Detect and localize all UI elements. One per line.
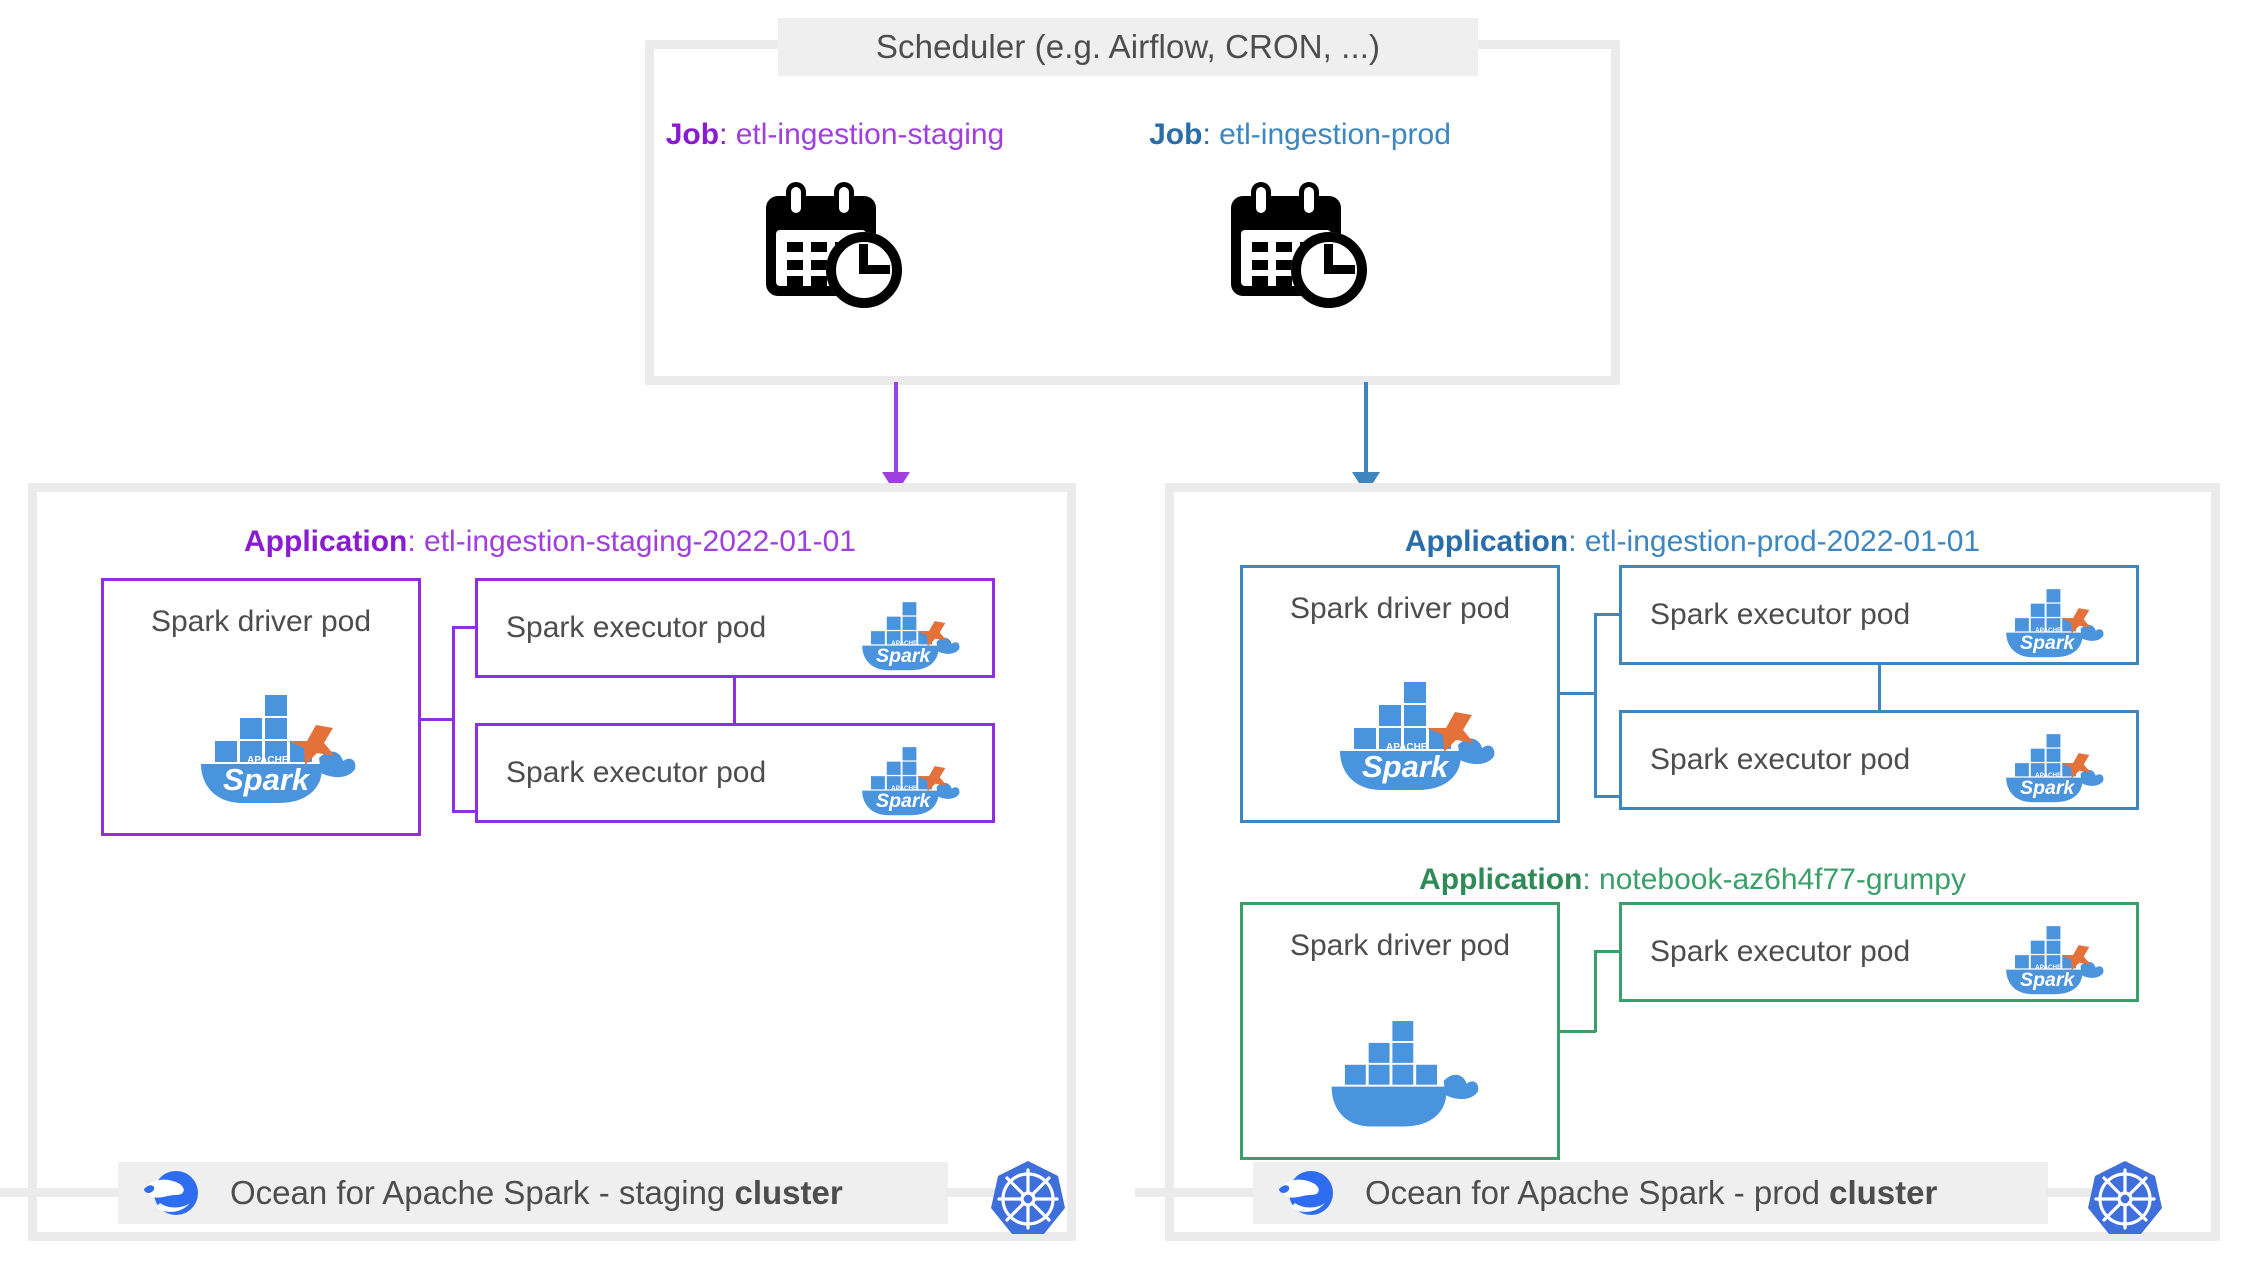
ocean-spot-logo-icon: [1277, 1167, 1339, 1219]
pod-executor-staging-2-label: Spark executor pod: [506, 756, 766, 790]
job-prod-prefix: Job: [1149, 118, 1202, 151]
svg-text:Spark: Spark: [876, 790, 931, 812]
pod-executor-notebook-1-label: Spark executor pod: [1650, 935, 1910, 969]
connector-notebook-spine: [1594, 950, 1597, 1032]
cluster-footer-prod-text: Ocean for Apache Spark - prod cluster: [1365, 1174, 1937, 1212]
cluster-footer-staging-prefix: Ocean for Apache Spark - staging: [230, 1174, 734, 1211]
job-staging-name: etl-ingestion-staging: [736, 118, 1005, 151]
svg-text:APACHE: APACHE: [2035, 772, 2061, 779]
docker-spark-whale-icon: Spark APACHE: [824, 727, 976, 819]
app-prod-prefix: Application: [1405, 525, 1568, 558]
connector-prod-spine: [1594, 613, 1597, 798]
svg-text:Spark: Spark: [223, 762, 311, 797]
app-label-notebook: Application: notebook-az6h4f77-grumpy: [1200, 863, 2185, 897]
arrow-prod-shaft: [1364, 382, 1368, 480]
svg-text:Spark: Spark: [2020, 632, 2075, 654]
ocean-spot-logo-icon: [142, 1167, 204, 1219]
calendar-clock-icon: [760, 182, 910, 310]
svg-text:APACHE: APACHE: [247, 755, 289, 766]
job-prod-label: Job: etl-ingestion-prod: [1090, 118, 1510, 152]
scheduler-title: Scheduler (e.g. Airflow, CRON, ...): [778, 18, 1478, 76]
svg-text:APACHE: APACHE: [2035, 964, 2061, 971]
svg-text:Spark: Spark: [2020, 777, 2075, 799]
connector-staging-driver-stub: [421, 718, 454, 721]
app-staging-name: etl-ingestion-staging-2022-01-01: [424, 525, 856, 558]
connector-notebook-driver-stub: [1560, 1030, 1596, 1033]
app-notebook-prefix: Application: [1419, 863, 1582, 896]
pod-driver-notebook[interactable]: Spark driver pod: [1240, 902, 1560, 1160]
docker-whale-plain-icon-wrap: [1243, 963, 1557, 1157]
kubernetes-logo-icon: [2084, 1158, 2166, 1240]
app-staging-sep: :: [407, 525, 424, 558]
calendar-clock-icon-wrap-2: [1090, 182, 1510, 310]
app-notebook-sep: :: [1582, 863, 1599, 896]
job-prod-sep: :: [1202, 118, 1219, 151]
pod-executor-prod-2[interactable]: Spark executor pod Spark APACHE: [1619, 710, 2139, 810]
pod-driver-prod-label: Spark driver pod: [1290, 592, 1510, 626]
footer-connector-prod-left: [1135, 1188, 1255, 1197]
connector-notebook-exec1: [1594, 950, 1621, 953]
cluster-footer-prod-bold: cluster: [1829, 1174, 1937, 1211]
job-staging-prefix: Job: [666, 118, 719, 151]
cluster-footer-staging: Ocean for Apache Spark - staging cluster: [118, 1162, 948, 1224]
pod-executor-staging-1[interactable]: Spark executor pod Spark APACHE: [475, 578, 995, 678]
k8s-logo-staging-wrap: [987, 1158, 1069, 1240]
arrow-staging-shaft: [894, 382, 898, 480]
calendar-clock-icon-wrap: [625, 182, 1045, 310]
kubernetes-logo-icon: [987, 1158, 1069, 1240]
app-label-etl-staging: Application: etl-ingestion-staging-2022-…: [80, 525, 1020, 559]
svg-text:Spark: Spark: [2020, 969, 2075, 991]
docker-whale-plain-icon: [1305, 990, 1495, 1130]
connector-staging-mid: [733, 678, 736, 723]
svg-text:APACHE: APACHE: [2035, 627, 2061, 634]
connector-staging-spine: [452, 626, 455, 812]
pod-executor-notebook-1[interactable]: Spark executor pod Spark APACHE: [1619, 902, 2139, 1002]
footer-connector-staging-left: [0, 1188, 120, 1197]
cluster-footer-staging-text: Ocean for Apache Spark - staging cluster: [230, 1174, 843, 1212]
diagram-canvas: Scheduler (e.g. Airflow, CRON, ...) Job:…: [0, 0, 2248, 1262]
docker-spark-whale-icon: Spark APACHE: [824, 582, 976, 674]
connector-prod-mid: [1878, 665, 1881, 710]
job-prod-name: etl-ingestion-prod: [1219, 118, 1451, 151]
job-staging-sep: :: [719, 118, 736, 151]
calendar-clock-icon: [1225, 182, 1375, 310]
docker-spark-whale-icon-wrap: Spark APACHE: [104, 639, 418, 833]
pod-executor-staging-1-label: Spark executor pod: [506, 611, 766, 645]
job-staging: Job: etl-ingestion-staging: [625, 118, 1045, 310]
connector-prod-driver-stub: [1560, 692, 1596, 695]
app-staging-prefix: Application: [244, 525, 407, 558]
svg-text:APACHE: APACHE: [891, 785, 917, 792]
pod-driver-staging[interactable]: Spark driver pod Spark APACHE: [101, 578, 421, 836]
svg-text:Spark: Spark: [876, 645, 931, 667]
job-staging-label: Job: etl-ingestion-staging: [625, 118, 1045, 152]
docker-spark-whale-icon: Spark APACHE: [1968, 906, 2120, 998]
docker-spark-whale-icon: Spark APACHE: [161, 663, 361, 809]
job-prod: Job: etl-ingestion-prod: [1090, 118, 1510, 310]
pod-driver-staging-label: Spark driver pod: [151, 605, 371, 639]
connector-staging-exec1: [452, 626, 477, 629]
pod-executor-prod-1[interactable]: Spark executor pod Spark APACHE: [1619, 565, 2139, 665]
app-prod-sep: :: [1568, 525, 1585, 558]
pod-executor-staging-2[interactable]: Spark executor pod Spark APACHE: [475, 723, 995, 823]
cluster-footer-prod: Ocean for Apache Spark - prod cluster: [1253, 1162, 2048, 1224]
app-label-etl-prod: Application: etl-ingestion-prod-2022-01-…: [1200, 525, 2185, 559]
app-notebook-name: notebook-az6h4f77-grumpy: [1599, 863, 1966, 896]
pod-driver-prod[interactable]: Spark driver pod Spark APACHE: [1240, 565, 1560, 823]
k8s-logo-prod-wrap: [2084, 1158, 2166, 1240]
pod-driver-notebook-label: Spark driver pod: [1290, 929, 1510, 963]
svg-text:APACHE: APACHE: [891, 640, 917, 647]
docker-spark-whale-icon: Spark APACHE: [1968, 714, 2120, 806]
docker-spark-whale-icon-wrap: Spark APACHE: [1243, 626, 1557, 820]
pod-executor-prod-2-label: Spark executor pod: [1650, 743, 1910, 777]
svg-text:APACHE: APACHE: [1386, 742, 1428, 753]
cluster-footer-prod-prefix: Ocean for Apache Spark - prod: [1365, 1174, 1829, 1211]
connector-staging-exec2: [452, 810, 477, 813]
docker-spark-whale-icon: Spark APACHE: [1300, 650, 1500, 796]
docker-spark-whale-icon: Spark APACHE: [1968, 569, 2120, 661]
svg-text:Spark: Spark: [1362, 749, 1450, 784]
connector-prod-exec2: [1594, 795, 1621, 798]
cluster-footer-staging-bold: cluster: [734, 1174, 842, 1211]
app-prod-name: etl-ingestion-prod-2022-01-01: [1585, 525, 1980, 558]
connector-prod-exec1: [1594, 613, 1621, 616]
pod-executor-prod-1-label: Spark executor pod: [1650, 598, 1910, 632]
